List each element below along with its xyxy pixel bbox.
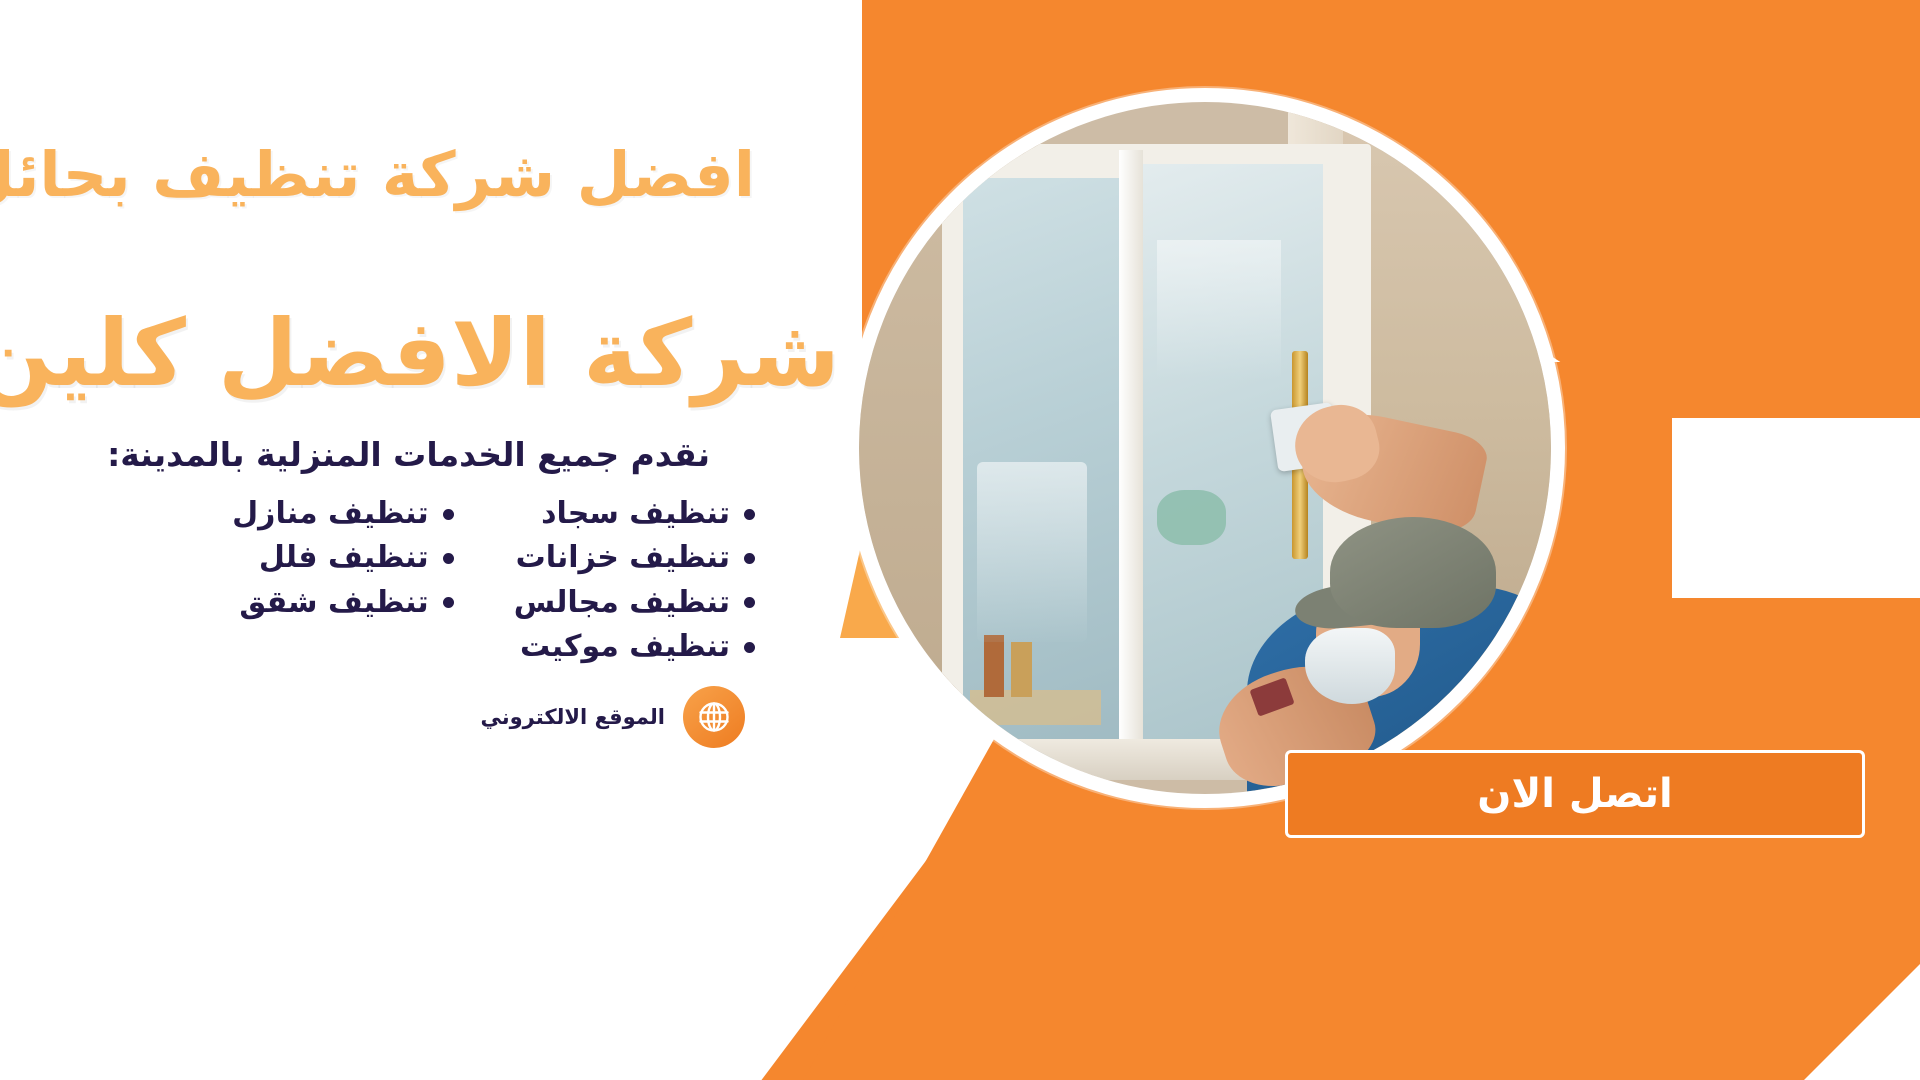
bullet-icon	[744, 642, 755, 653]
service-label: تنظيف مجالس	[514, 581, 730, 625]
services-column-secondary: تنظيف سجاد تنظيف خزانات تنظيف مجالس تنظي…	[514, 492, 755, 670]
bullet-icon	[744, 597, 755, 608]
photo-reflected-mask	[1157, 490, 1226, 545]
service-label: تنظيف موكيت	[520, 625, 730, 669]
service-label: تنظيف منازل	[232, 492, 429, 536]
service-label: تنظيف سجاد	[541, 492, 730, 536]
list-item: تنظيف سجاد	[514, 492, 755, 536]
globe-icon[interactable]	[683, 686, 745, 748]
website-label: الموقع الالكتروني	[481, 705, 666, 729]
hero-photo-circle	[845, 88, 1565, 808]
list-item: تنظيف شقق	[232, 581, 454, 625]
services-column-primary: تنظيف منازل تنظيف فلل تنظيف شقق	[232, 492, 454, 670]
photo-book-2	[1011, 642, 1032, 697]
service-label: تنظيف شقق	[239, 581, 428, 625]
call-now-label: اتصل الان	[1477, 771, 1672, 817]
services-lists: تنظيف سجاد تنظيف خزانات تنظيف مجالس تنظي…	[175, 492, 775, 670]
list-item: تنظيف فلل	[232, 536, 454, 580]
headline-primary: افضل شركة تنظيف بحائل	[0, 138, 755, 211]
list-item: تنظيف موكيت	[514, 625, 755, 669]
photo-face-mask	[1305, 628, 1395, 704]
photo-glass-reflection-top	[1157, 240, 1282, 378]
list-item: تنظيف خزانات	[514, 536, 755, 580]
photo-glass-reflection-bottom	[977, 462, 1088, 642]
service-label: تنظيف فلل	[259, 536, 429, 580]
bullet-icon	[443, 509, 454, 520]
hero-photo	[859, 102, 1551, 794]
photo-cap	[1330, 517, 1496, 628]
website-row[interactable]: الموقع الالكتروني	[481, 686, 746, 748]
decor-white-right-band	[1672, 418, 1920, 598]
call-now-button[interactable]: اتصل الان	[1285, 750, 1865, 838]
service-label: تنظيف خزانات	[516, 536, 730, 580]
subtitle-services-intro: نقدم جميع الخدمات المنزلية بالمدينة:	[107, 435, 710, 474]
headline-company-name: شركة الافضل كلين	[0, 300, 840, 407]
bullet-icon	[443, 597, 454, 608]
photo-window-mullion	[1119, 150, 1143, 773]
bullet-icon	[443, 553, 454, 564]
content-panel: افضل شركة تنظيف بحائل شركة الافضل كلين ن…	[0, 0, 860, 1080]
bullet-icon	[744, 553, 755, 564]
list-item: تنظيف مجالس	[514, 581, 755, 625]
bullet-icon	[744, 509, 755, 520]
list-item: تنظيف منازل	[232, 492, 454, 536]
photo-book-1	[984, 635, 1005, 697]
